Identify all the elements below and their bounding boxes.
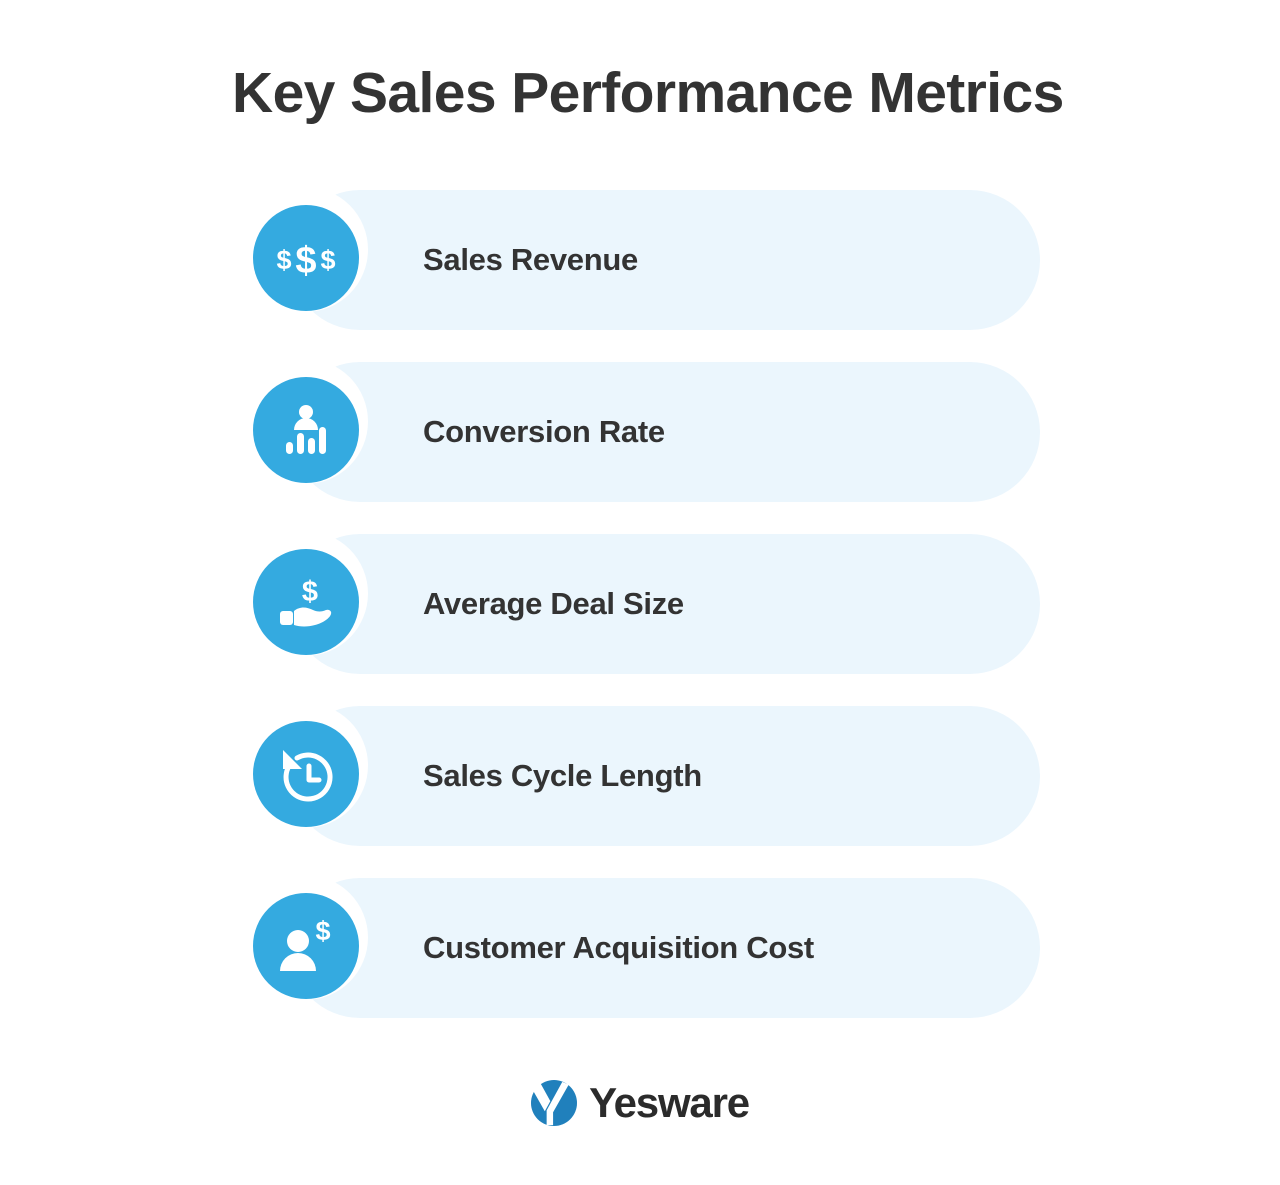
- metrics-list: $ $ $ Sales Revenue: [0, 190, 1280, 1050]
- icon-badge: [253, 721, 359, 827]
- icon-badge: [253, 377, 359, 483]
- person-bar-chart-icon: [278, 402, 334, 458]
- brand-name: Yesware: [589, 1082, 749, 1124]
- hand-holding-dollar-icon: $: [277, 575, 335, 629]
- list-item: Sales Cycle Length: [0, 706, 1280, 846]
- person-dollar-icon: $: [277, 919, 335, 973]
- metric-label: Customer Acquisition Cost: [423, 878, 814, 1018]
- infographic-canvas: Key Sales Performance Metrics $ $ $: [0, 0, 1280, 1185]
- svg-text:$: $: [315, 919, 330, 946]
- clock-rewind-icon: [277, 746, 335, 802]
- metric-pill: [290, 362, 1040, 502]
- list-item: $ $ $ Sales Revenue: [0, 190, 1280, 330]
- list-item: $ Average Deal Size: [0, 534, 1280, 674]
- svg-text:$: $: [302, 576, 318, 608]
- icon-badge: $ $ $: [253, 205, 359, 311]
- yesware-logo-mark-icon: [531, 1080, 577, 1126]
- list-item: Conversion Rate: [0, 362, 1280, 502]
- svg-text:$: $: [295, 240, 316, 279]
- svg-text:$: $: [320, 245, 335, 275]
- metric-label: Conversion Rate: [423, 362, 665, 502]
- icon-badge: $: [253, 549, 359, 655]
- svg-text:$: $: [276, 245, 291, 275]
- brand-logo: Yesware: [0, 1080, 1280, 1126]
- page-title: Key Sales Performance Metrics: [232, 62, 1062, 125]
- icon-badge: $: [253, 893, 359, 999]
- three-dollar-signs-icon: $ $ $: [275, 237, 337, 279]
- metric-pill: [290, 190, 1040, 330]
- metric-label: Average Deal Size: [423, 534, 684, 674]
- metric-label: Sales Revenue: [423, 190, 638, 330]
- metric-label: Sales Cycle Length: [423, 706, 702, 846]
- list-item: $ Customer Acquisition Cost: [0, 878, 1280, 1018]
